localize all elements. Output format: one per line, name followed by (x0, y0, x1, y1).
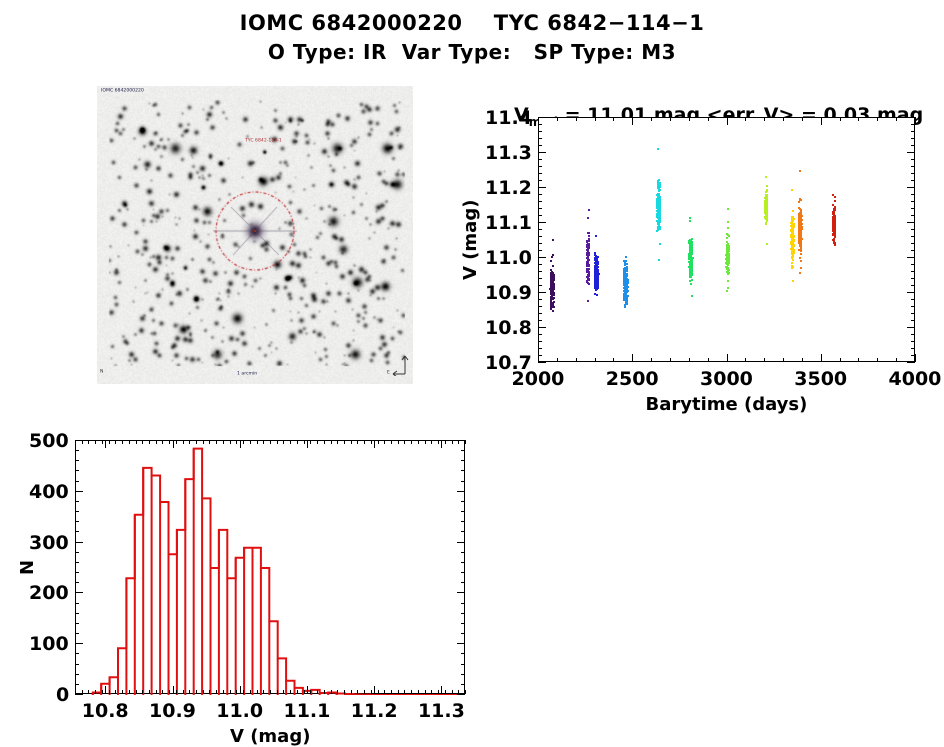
y-tick-label: 400 (29, 481, 69, 503)
axis-tick (136, 690, 137, 694)
axis-tick (911, 355, 915, 356)
axis-tick (196, 690, 197, 694)
axis-tick (911, 194, 915, 195)
axis-tick (324, 690, 325, 694)
axis-tick (632, 117, 633, 121)
axis-tick (203, 690, 204, 694)
axis-tick (911, 201, 915, 202)
axis-tick (538, 243, 542, 244)
axis-tick (911, 306, 915, 307)
y-tick-label: 300 (29, 532, 69, 554)
axis-tick (461, 603, 465, 604)
axis-tick (411, 440, 412, 444)
axis-tick (189, 690, 190, 694)
axis-tick (461, 521, 465, 522)
axis-tick (169, 440, 170, 444)
axis-tick (538, 362, 542, 363)
axis-tick (452, 440, 453, 444)
axis-tick (538, 138, 542, 139)
x-tick-label: 11.3 (418, 700, 465, 722)
axis-tick (176, 440, 177, 444)
axis-tick (465, 440, 466, 444)
axis-tick (538, 313, 542, 314)
axis-tick (911, 180, 915, 181)
axis-tick (911, 229, 915, 230)
axis-tick (109, 690, 110, 694)
axis-tick (230, 440, 231, 444)
axis-tick (689, 117, 690, 121)
axis-tick (802, 117, 803, 121)
axis-tick (911, 292, 915, 293)
axis-tick (88, 690, 89, 694)
axis-tick (364, 440, 365, 444)
axis-tick (75, 633, 79, 634)
axis-tick (911, 243, 915, 244)
axis-tick (129, 440, 130, 444)
axis-tick (176, 690, 177, 694)
axis-tick (465, 690, 466, 694)
x-tick-label: 11.0 (216, 700, 263, 722)
axis-tick (461, 684, 465, 685)
axis-tick (75, 562, 79, 563)
axis-tick (727, 358, 728, 362)
axis-tick (169, 690, 170, 694)
axis-tick (538, 250, 542, 251)
axis-tick (75, 582, 79, 583)
x-tick-label: 2500 (606, 368, 659, 390)
y-tick-label: 0 (56, 684, 69, 706)
axis-tick (727, 117, 728, 121)
axis-tick (317, 690, 318, 694)
axis-tick (391, 440, 392, 444)
axis-tick (283, 440, 284, 444)
axis-tick (441, 686, 442, 694)
axis-tick (576, 358, 577, 362)
axis-tick (915, 117, 916, 121)
axis-tick (452, 690, 453, 694)
axis-tick (304, 440, 305, 444)
axis-tick (576, 117, 577, 121)
axis-tick (203, 440, 204, 444)
axis-tick (75, 592, 79, 593)
axis-tick (162, 690, 163, 694)
axis-tick (840, 358, 841, 362)
axis-tick (257, 690, 258, 694)
axis-tick (337, 690, 338, 694)
histogram-y-axis-title: N (17, 559, 38, 574)
axis-tick (209, 690, 210, 694)
axis-tick (122, 690, 123, 694)
axis-tick (461, 613, 465, 614)
axis-tick (911, 320, 915, 321)
axis-tick (651, 358, 652, 362)
axis-tick (75, 623, 79, 624)
y-tick-label: 500 (29, 430, 69, 452)
y-tick-label: 11.1 (485, 212, 532, 234)
axis-tick (911, 299, 915, 300)
axis-tick (461, 460, 465, 461)
axis-tick (344, 440, 345, 444)
axis-tick (911, 215, 915, 216)
axis-tick (911, 271, 915, 272)
light-curve-point (834, 200, 836, 202)
axis-tick (75, 491, 79, 492)
light-curve-point (832, 227, 834, 229)
y-tick-label: 11.3 (485, 142, 532, 164)
axis-tick (283, 690, 284, 694)
axis-tick (95, 440, 96, 444)
y-tick-label: 11.0 (485, 247, 532, 269)
axis-tick (557, 358, 558, 362)
axis-tick (223, 440, 224, 444)
axis-tick (102, 690, 103, 694)
axis-tick (223, 690, 224, 694)
axis-tick (364, 690, 365, 694)
axis-tick (538, 166, 542, 167)
axis-tick (431, 440, 432, 444)
axis-tick (461, 633, 465, 634)
axis-tick (378, 690, 379, 694)
axis-tick (802, 358, 803, 362)
x-tick-label: 11.1 (283, 700, 330, 722)
axis-tick (557, 117, 558, 121)
axis-tick (595, 358, 596, 362)
axis-tick (538, 306, 542, 307)
axis-tick (911, 362, 915, 363)
axis-tick (783, 117, 784, 121)
axis-tick (911, 341, 915, 342)
axis-tick (173, 440, 174, 448)
light-curve-group (539, 118, 914, 361)
axis-tick (461, 481, 465, 482)
axis-tick (538, 124, 542, 125)
axis-tick (290, 440, 291, 444)
axis-tick (877, 117, 878, 121)
axis-tick (75, 674, 79, 675)
axis-tick (357, 440, 358, 444)
axis-tick (595, 117, 596, 121)
histogram-plot-frame (75, 440, 465, 694)
axis-tick (270, 690, 271, 694)
axis-tick (461, 501, 465, 502)
axis-tick (461, 664, 465, 665)
axis-tick (911, 152, 915, 153)
axis-tick (115, 690, 116, 694)
axis-tick (351, 440, 352, 444)
axis-tick (538, 278, 542, 279)
axis-tick (911, 313, 915, 314)
axis-tick (538, 271, 542, 272)
axis-tick (538, 348, 542, 349)
axis-tick (196, 440, 197, 444)
axis-tick (129, 690, 130, 694)
axis-tick (384, 690, 385, 694)
axis-tick (136, 440, 137, 444)
y-tick-label: 200 (29, 582, 69, 604)
axis-tick (270, 440, 271, 444)
axis-tick (209, 440, 210, 444)
axis-tick (95, 690, 96, 694)
axis-tick (398, 690, 399, 694)
axis-tick (411, 690, 412, 694)
axis-tick (911, 131, 915, 132)
axis-tick (613, 117, 614, 121)
axis-tick (538, 292, 542, 293)
axis-tick (75, 694, 79, 695)
light-curve-point (834, 215, 836, 217)
axis-tick (461, 511, 465, 512)
axis-tick (911, 334, 915, 335)
axis-tick (75, 643, 79, 644)
axis-tick (911, 222, 915, 223)
axis-tick (418, 440, 419, 444)
axis-tick (821, 358, 822, 362)
axis-tick (236, 690, 237, 694)
axis-tick (75, 552, 79, 553)
axis-tick (149, 690, 150, 694)
axis-tick (538, 215, 542, 216)
axis-tick (183, 690, 184, 694)
y-tick-label: 100 (29, 633, 69, 655)
axis-tick (438, 690, 439, 694)
axis-tick (105, 686, 106, 694)
axis-tick (445, 690, 446, 694)
axis-tick (538, 201, 542, 202)
axis-tick (297, 690, 298, 694)
light-curve-point (832, 211, 834, 213)
axis-tick (538, 334, 542, 335)
axis-tick (75, 613, 79, 614)
axis-tick (538, 327, 542, 328)
axis-tick (75, 542, 79, 543)
axis-tick (425, 690, 426, 694)
axis-tick (324, 440, 325, 444)
histogram-outline (93, 449, 463, 695)
axis-tick (764, 358, 765, 362)
axis-tick (877, 358, 878, 362)
axis-tick (378, 440, 379, 444)
axis-tick (538, 285, 542, 286)
axis-tick (310, 440, 311, 444)
axis-tick (538, 117, 542, 118)
axis-tick (461, 572, 465, 573)
axis-tick (911, 327, 915, 328)
axis-tick (115, 440, 116, 444)
axis-tick (538, 145, 542, 146)
axis-tick (538, 257, 542, 258)
axis-tick (911, 236, 915, 237)
axis-tick (75, 450, 79, 451)
axis-tick (75, 572, 79, 573)
axis-tick (156, 440, 157, 444)
axis-tick (461, 674, 465, 675)
axis-tick (915, 358, 916, 362)
axis-tick (911, 166, 915, 167)
axis-tick (257, 440, 258, 444)
light-curve-point (832, 204, 834, 206)
axis-tick (331, 690, 332, 694)
light-curve-plot-frame (538, 117, 915, 362)
y-tick-label: 11.2 (485, 177, 532, 199)
axis-tick (461, 440, 465, 441)
x-tick-label: 3500 (794, 368, 847, 390)
axis-tick (911, 250, 915, 251)
axis-tick (745, 358, 746, 362)
axis-tick (670, 117, 671, 121)
axis-tick (337, 440, 338, 444)
axis-tick (290, 690, 291, 694)
axis-tick (391, 690, 392, 694)
axis-tick (277, 440, 278, 444)
axis-tick (538, 341, 542, 342)
axis-tick (911, 124, 915, 125)
axis-tick (538, 173, 542, 174)
axis-tick (142, 690, 143, 694)
axis-tick (764, 117, 765, 121)
axis-tick (538, 320, 542, 321)
axis-tick (911, 257, 915, 258)
axis-tick (371, 440, 372, 444)
axis-tick (142, 440, 143, 444)
axis-tick (250, 690, 251, 694)
axis-tick (783, 358, 784, 362)
axis-tick (371, 690, 372, 694)
axis-tick (75, 684, 79, 685)
axis-tick (911, 173, 915, 174)
axis-tick (310, 690, 311, 694)
axis-tick (911, 187, 915, 188)
axis-tick (911, 117, 915, 118)
axis-tick (461, 542, 465, 543)
axis-tick (216, 690, 217, 694)
axis-tick (398, 440, 399, 444)
axis-tick (431, 690, 432, 694)
axis-tick (263, 690, 264, 694)
histogram-x-axis-title: V (mag) (230, 726, 310, 747)
y-tick-label: 10.7 (485, 352, 532, 374)
axis-tick (538, 229, 542, 230)
light-curve-panel: Barytime (days) V (mag) 2000250030003500… (0, 0, 944, 420)
axis-tick (538, 299, 542, 300)
axis-tick (277, 690, 278, 694)
axis-tick (404, 690, 405, 694)
axis-tick (297, 440, 298, 444)
axis-tick (75, 501, 79, 502)
axis-tick (911, 145, 915, 146)
axis-tick (374, 440, 375, 448)
x-tick-label: 11.2 (351, 700, 398, 722)
axis-tick (911, 278, 915, 279)
light-curve-point (832, 234, 834, 236)
x-tick-label: 10.8 (82, 700, 129, 722)
axis-tick (75, 481, 79, 482)
light-curve-datapoints (539, 118, 914, 361)
axis-tick (109, 440, 110, 444)
axis-tick (911, 138, 915, 139)
axis-tick (461, 562, 465, 563)
axis-tick (745, 117, 746, 121)
axis-tick (911, 285, 915, 286)
axis-tick (173, 686, 174, 694)
axis-tick (357, 690, 358, 694)
axis-tick (538, 131, 542, 132)
axis-tick (75, 603, 79, 604)
axis-tick (250, 440, 251, 444)
axis-tick (75, 531, 79, 532)
axis-tick (183, 440, 184, 444)
x-tick-label: 4000 (889, 368, 942, 390)
axis-tick (670, 358, 671, 362)
axis-tick (105, 440, 106, 448)
axis-tick (461, 643, 465, 644)
axis-tick (243, 440, 244, 444)
axis-tick (708, 117, 709, 121)
axis-tick (344, 690, 345, 694)
axis-tick (331, 440, 332, 444)
axis-tick (384, 440, 385, 444)
axis-tick (538, 236, 542, 237)
axis-tick (445, 440, 446, 444)
axis-tick (651, 117, 652, 121)
axis-tick (461, 694, 465, 695)
axis-tick (689, 358, 690, 362)
axis-tick (538, 194, 542, 195)
axis-tick (538, 222, 542, 223)
axis-tick (75, 470, 79, 471)
axis-tick (441, 440, 442, 448)
axis-tick (189, 440, 190, 444)
axis-tick (911, 208, 915, 209)
axis-tick (461, 491, 465, 492)
axis-tick (538, 264, 542, 265)
axis-tick (307, 686, 308, 694)
axis-tick (613, 358, 614, 362)
axis-tick (102, 440, 103, 444)
y-tick-label: 10.8 (485, 317, 532, 339)
axis-tick (911, 159, 915, 160)
axis-tick (263, 440, 264, 444)
x-tick-label: 3000 (700, 368, 753, 390)
axis-tick (538, 355, 542, 356)
axis-tick (304, 690, 305, 694)
axis-tick (461, 552, 465, 553)
axis-tick (75, 653, 79, 654)
axis-tick (236, 440, 237, 444)
light-curve-point (834, 242, 836, 244)
axis-tick (75, 511, 79, 512)
y-tick-label: 11.4 (485, 107, 532, 129)
axis-tick (418, 690, 419, 694)
axis-tick (156, 690, 157, 694)
axis-tick (461, 653, 465, 654)
light-curve-point (834, 217, 836, 219)
y-tick-label: 10.9 (485, 282, 532, 304)
axis-tick (240, 686, 241, 694)
histogram-steps (76, 441, 466, 695)
x-tick-label: 10.9 (149, 700, 196, 722)
axis-tick (230, 690, 231, 694)
axis-tick (88, 440, 89, 444)
light-curve-point (833, 224, 835, 226)
axis-tick (438, 440, 439, 444)
axis-tick (538, 180, 542, 181)
axis-tick (149, 440, 150, 444)
axis-tick (317, 440, 318, 444)
axis-tick (75, 521, 79, 522)
axis-tick (858, 117, 859, 121)
axis-tick (538, 152, 542, 153)
axis-tick (461, 450, 465, 451)
